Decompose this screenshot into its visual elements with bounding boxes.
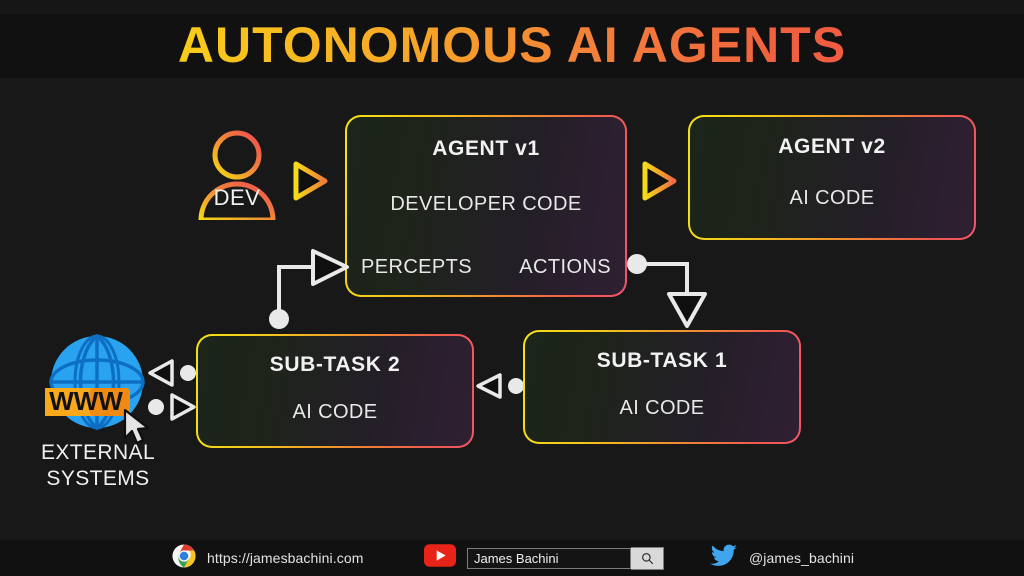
agent-v1-box[interactable]: AGENT v1 DEVELOPER CODE PERCEPTS ACTIONS <box>345 115 627 297</box>
agent-v2-title: AGENT v2 <box>778 135 886 159</box>
play-arrow-icon-v1-to-v2 <box>638 158 680 204</box>
external-systems-label: EXTERNAL SYSTEMS <box>18 440 178 492</box>
page-title: AUTONOMOUS AI AGENTS <box>0 12 1024 78</box>
search-icon[interactable] <box>631 547 664 570</box>
connector-sub-task-2-to-external <box>146 392 198 422</box>
youtube-icon[interactable] <box>424 544 456 572</box>
sub-task-1-subtitle: AI CODE <box>619 397 704 420</box>
external-systems-label-line2: SYSTEMS <box>18 466 178 492</box>
footer: https://jamesbachini.com James Bachini <box>0 540 1024 576</box>
connector-external-to-sub-task-2 <box>146 358 198 388</box>
connector-sub-task-1-to-sub-task-2 <box>474 372 529 400</box>
agent-v1-percepts-label: PERCEPTS <box>361 256 472 279</box>
twitter-icon[interactable] <box>710 544 738 573</box>
chrome-icon <box>172 544 196 573</box>
www-banner-text: WWW <box>49 386 123 416</box>
agent-v2-subtitle: AI CODE <box>789 187 874 210</box>
website-link[interactable]: https://jamesbachini.com <box>172 544 363 573</box>
youtube-group[interactable]: James Bachini <box>424 544 664 572</box>
agent-v1-title: AGENT v1 <box>432 137 540 161</box>
dev-label: DEV <box>193 185 281 211</box>
play-arrow-icon-dev-to-agent <box>289 158 331 204</box>
sub-task-1-box[interactable]: SUB-TASK 1 AI CODE <box>523 330 801 444</box>
sub-task-2-box[interactable]: SUB-TASK 2 AI CODE <box>196 334 474 448</box>
external-systems-label-line1: EXTERNAL <box>18 440 178 466</box>
agent-v2-box[interactable]: AGENT v2 AI CODE <box>688 115 976 240</box>
youtube-search-input[interactable]: James Bachini <box>467 548 631 569</box>
twitter-handle: @james_bachini <box>749 550 854 566</box>
connector-actions-to-sub-task-1 <box>625 250 735 330</box>
twitter-group[interactable]: @james_bachini <box>710 544 854 573</box>
website-url: https://jamesbachini.com <box>207 550 363 566</box>
agent-v1-subtitle: DEVELOPER CODE <box>390 193 581 216</box>
connector-sub-task-2-to-percepts <box>265 248 365 333</box>
sub-task-1-title: SUB-TASK 1 <box>597 349 727 373</box>
agent-v1-actions-label: ACTIONS <box>519 256 611 279</box>
sub-task-2-title: SUB-TASK 2 <box>270 353 400 377</box>
sub-task-2-subtitle: AI CODE <box>292 401 377 424</box>
